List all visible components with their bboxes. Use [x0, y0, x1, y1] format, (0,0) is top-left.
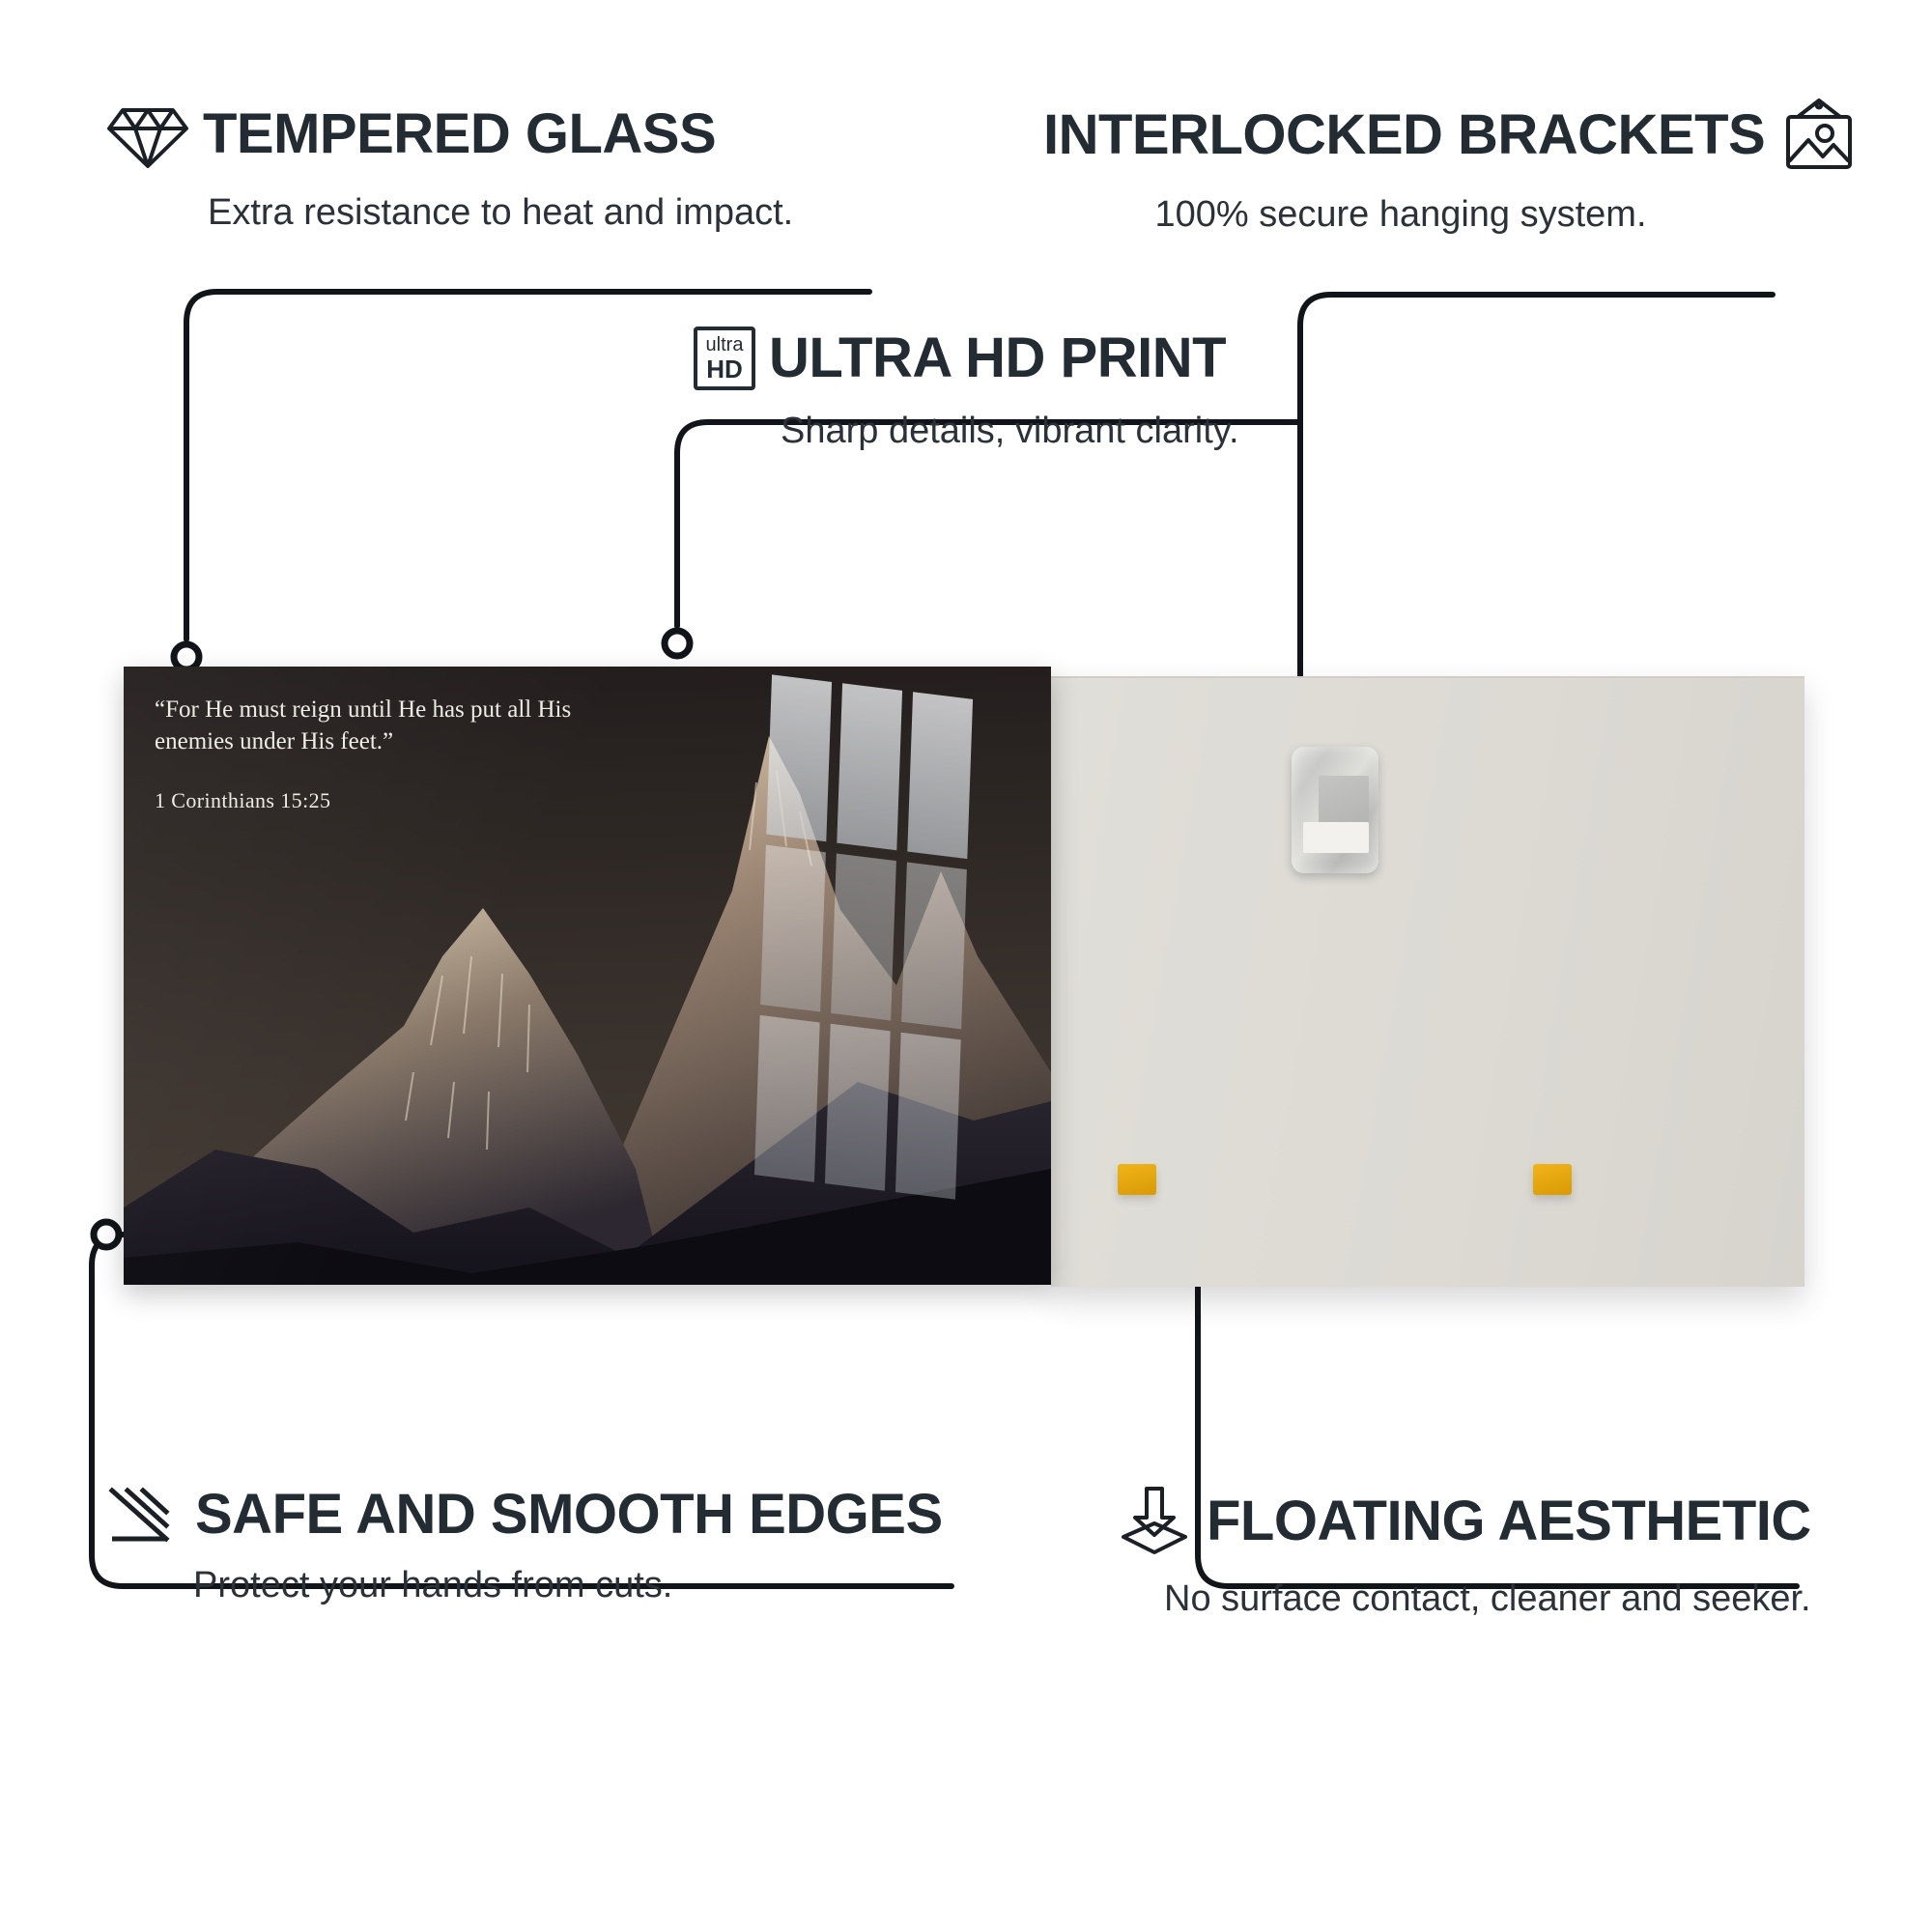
beveled-edge-lines-icon	[106, 1485, 182, 1545]
connector-dot-safe-edges	[94, 1222, 119, 1247]
infographic-canvas: TEMPERED GLASS Extra resistance to heat …	[0, 0, 1932, 1932]
feature-title: FLOATING AESTHETIC	[1207, 1493, 1811, 1549]
yellow-spacer-pad-right	[1533, 1164, 1572, 1195]
product-back-panel	[1051, 676, 1804, 1287]
feature-subtitle: Sharp details, vibrant clarity.	[781, 412, 1239, 452]
feature-header: ultra HD ULTRA HD PRINT	[694, 327, 1239, 390]
feature-floating-aesthetic: FLOATING AESTHETIC No surface contact, c…	[1116, 1485, 1811, 1620]
feature-interlocked-brackets: INTERLOCKED BRACKETS 100% secure hanging…	[1043, 97, 1860, 236]
feature-title: INTERLOCKED BRACKETS	[1043, 107, 1765, 163]
bracket-keyhole-slot	[1319, 776, 1369, 824]
feature-tempered-glass: TEMPERED GLASS Extra resistance to heat …	[106, 97, 793, 234]
connector-ultra-hd	[677, 422, 1299, 626]
feature-header: SAFE AND SMOOTH EDGES	[106, 1485, 943, 1545]
artwork-verse-block: “For He must reign until He has put all …	[155, 694, 599, 813]
feature-title: ULTRA HD PRINT	[769, 330, 1226, 386]
feature-subtitle: 100% secure hanging system.	[1043, 195, 1758, 236]
hanging-picture-frame-icon	[1778, 97, 1860, 174]
feature-subtitle: Protect your hands from cuts.	[193, 1566, 943, 1606]
feature-title: TEMPERED GLASS	[203, 106, 716, 162]
diamond-icon	[106, 97, 189, 172]
feature-subtitle: No surface contact, cleaner and seeker.	[1164, 1579, 1811, 1620]
metal-hanging-bracket-icon	[1292, 747, 1378, 873]
product-front-panel: “For He must reign until He has put all …	[124, 667, 1051, 1285]
yellow-spacer-pad-left	[1118, 1164, 1156, 1195]
down-arrow-layers-icon	[1116, 1485, 1193, 1558]
artwork-quote: “For He must reign until He has put all …	[155, 694, 599, 757]
ultra-hd-badge-bottom: HD	[706, 356, 743, 382]
feature-header: TEMPERED GLASS	[106, 97, 793, 172]
feature-safe-and-smooth-edges: SAFE AND SMOOTH EDGES Protect your hands…	[106, 1485, 943, 1606]
feature-header: FLOATING AESTHETIC	[1116, 1485, 1811, 1558]
ultra-hd-badge-top: ultra	[706, 335, 744, 355]
feature-header: INTERLOCKED BRACKETS	[1043, 97, 1860, 174]
ultra-hd-badge-icon: ultra HD	[694, 327, 755, 390]
feature-subtitle: Extra resistance to heat and impact.	[208, 193, 793, 234]
feature-title: SAFE AND SMOOTH EDGES	[195, 1487, 943, 1543]
feature-ultra-hd-print: ultra HD ULTRA HD PRINT Sharp details, v…	[694, 327, 1239, 452]
connector-dot-ultra-hd	[665, 631, 690, 656]
artwork-reference: 1 Corinthians 15:25	[155, 788, 599, 813]
connector-interlocked-brackets	[1300, 295, 1773, 709]
